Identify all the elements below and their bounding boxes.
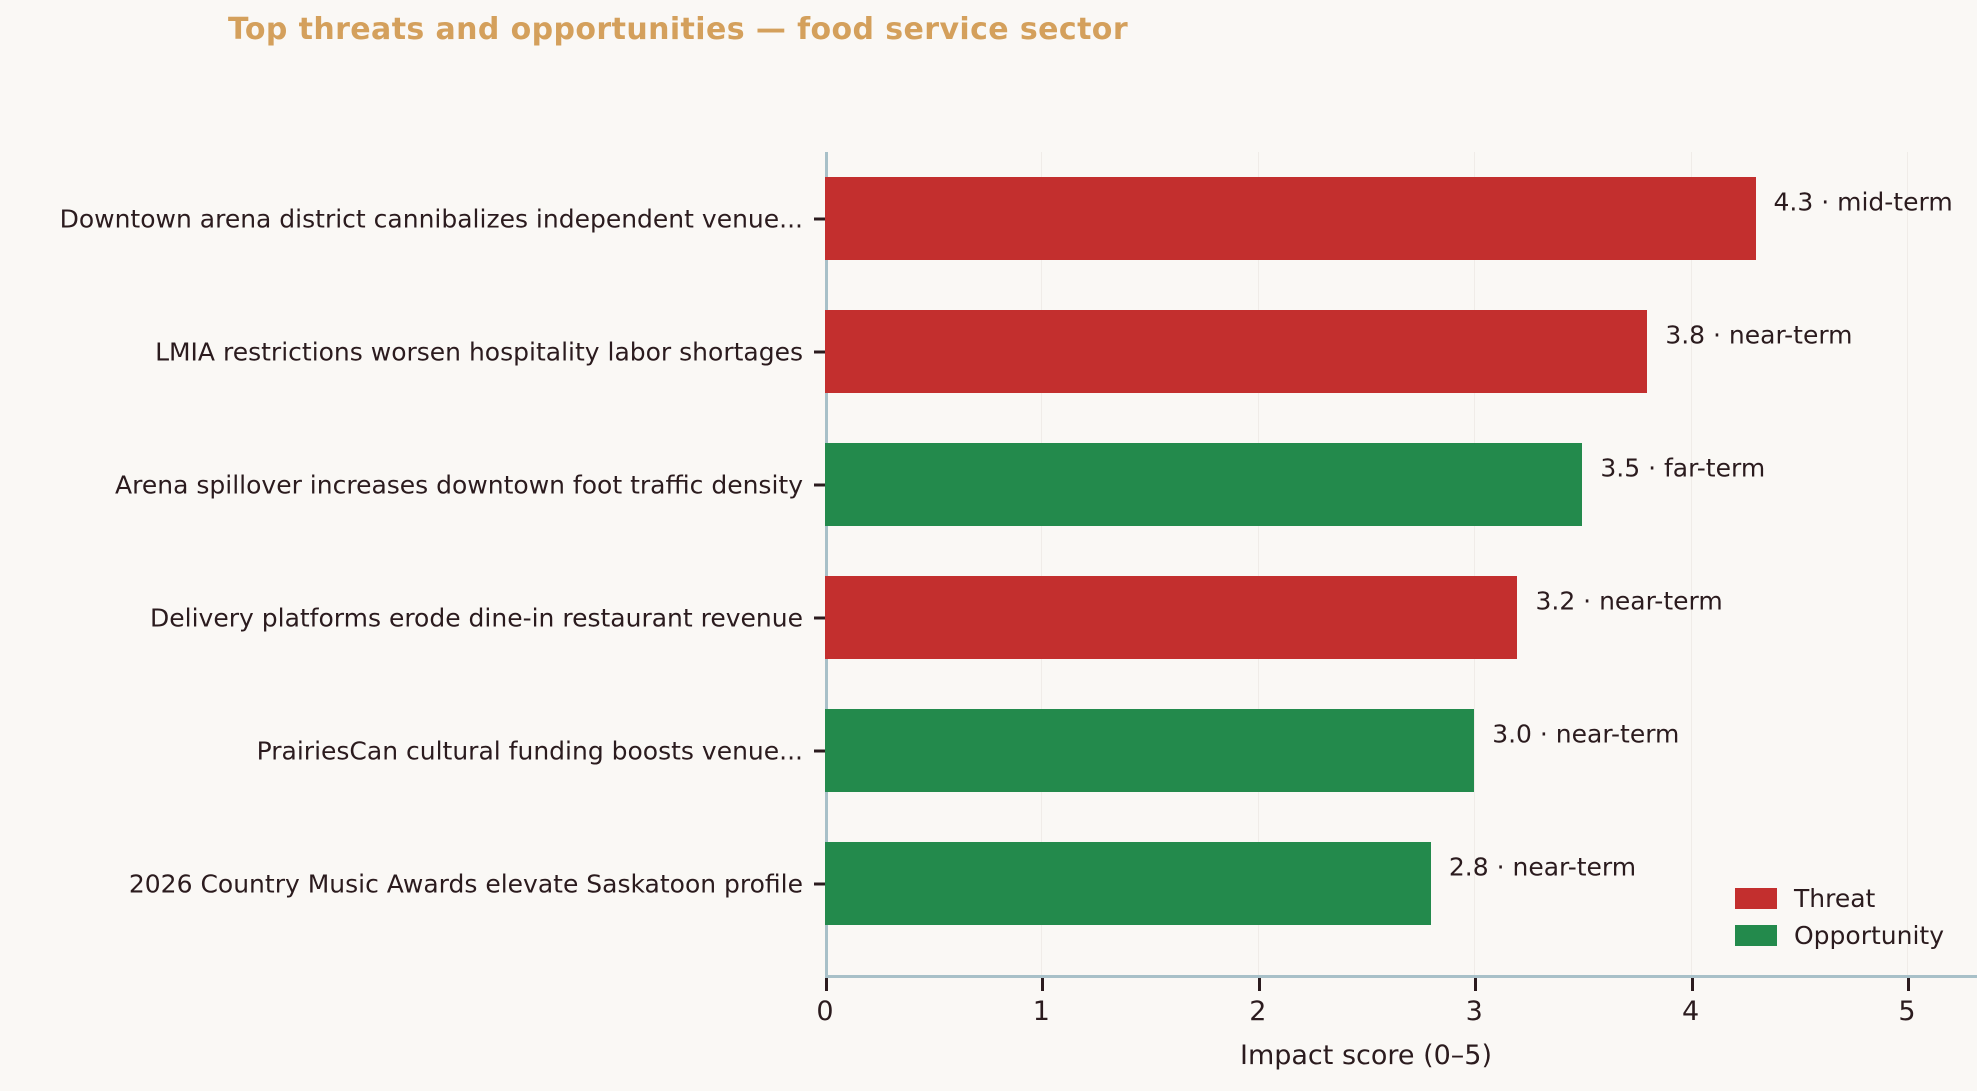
legend-label: Threat (1794, 884, 1875, 913)
bar-value-label: 4.3 · mid-term (1774, 188, 1953, 217)
legend-item[interactable]: Threat (1735, 880, 1944, 917)
legend-swatch-icon (1735, 888, 1777, 909)
legend-swatch-icon (1735, 925, 1777, 946)
bar-threat[interactable] (825, 310, 1647, 393)
x-axis-tick-label: 5 (1898, 996, 1915, 1027)
y-axis-tick-label: Downtown arena district cannibalizes ind… (60, 204, 803, 233)
y-axis-tick-label: PrairiesCan cultural funding boosts venu… (257, 736, 803, 765)
bar-row: 3.8 · near-term (825, 285, 1977, 418)
y-axis-tick-mark (814, 217, 825, 220)
x-axis-tick-mark (1041, 978, 1044, 991)
y-axis-tick-label: LMIA restrictions worsen hospitality lab… (155, 337, 803, 366)
y-axis-tick-label: 2026 Country Music Awards elevate Saskat… (129, 869, 803, 898)
bar-value-label: 3.8 · near-term (1665, 321, 1852, 350)
bar-opportunity[interactable] (825, 709, 1474, 792)
bar-row: 3.0 · near-term (825, 684, 1977, 817)
x-axis-tick-mark (1907, 978, 1910, 991)
bar-chart: Top threats and opportunities — food ser… (0, 0, 1977, 1091)
x-axis-tick-label: 3 (1466, 996, 1483, 1027)
bar-threat[interactable] (825, 177, 1756, 260)
bar-threat[interactable] (825, 576, 1517, 659)
x-axis-tick-mark (1258, 978, 1261, 991)
y-axis-tick-mark (814, 749, 825, 752)
legend-item[interactable]: Opportunity (1735, 917, 1944, 954)
bar-value-label: 3.2 · near-term (1535, 587, 1722, 616)
bar-value-label: 2.8 · near-term (1449, 853, 1636, 882)
x-axis-tick-label: 2 (1249, 996, 1266, 1027)
chart-legend: ThreatOpportunity (1735, 880, 1944, 954)
x-axis-tick-mark (825, 978, 828, 991)
y-axis-tick-label: Arena spillover increases downtown foot … (115, 470, 803, 499)
bar-row: 3.2 · near-term (825, 551, 1977, 684)
chart-title: Top threats and opportunities — food ser… (228, 12, 1128, 47)
x-axis-tick-label: 0 (816, 996, 833, 1027)
x-axis-tick-label: 4 (1682, 996, 1699, 1027)
bar-row: 3.5 · far-term (825, 418, 1977, 551)
y-axis-tick-mark (814, 350, 825, 353)
bar-value-label: 3.0 · near-term (1492, 720, 1679, 749)
y-axis-tick-mark (814, 616, 825, 619)
bar-opportunity[interactable] (825, 842, 1431, 925)
bar-value-label: 3.5 · far-term (1600, 454, 1765, 483)
bar-opportunity[interactable] (825, 443, 1582, 526)
y-axis-tick-mark (814, 483, 825, 486)
bar-row: 4.3 · mid-term (825, 152, 1977, 285)
x-axis-tick-label: 1 (1033, 996, 1050, 1027)
legend-label: Opportunity (1794, 921, 1944, 950)
x-axis-spine (825, 975, 1977, 978)
y-axis-tick-mark (814, 882, 825, 885)
x-axis-tick-mark (1691, 978, 1694, 991)
x-axis-tick-mark (1474, 978, 1477, 991)
y-axis-tick-label: Delivery platforms erode dine-in restaur… (150, 603, 803, 632)
x-axis-title: Impact score (0–5) (825, 1040, 1907, 1071)
